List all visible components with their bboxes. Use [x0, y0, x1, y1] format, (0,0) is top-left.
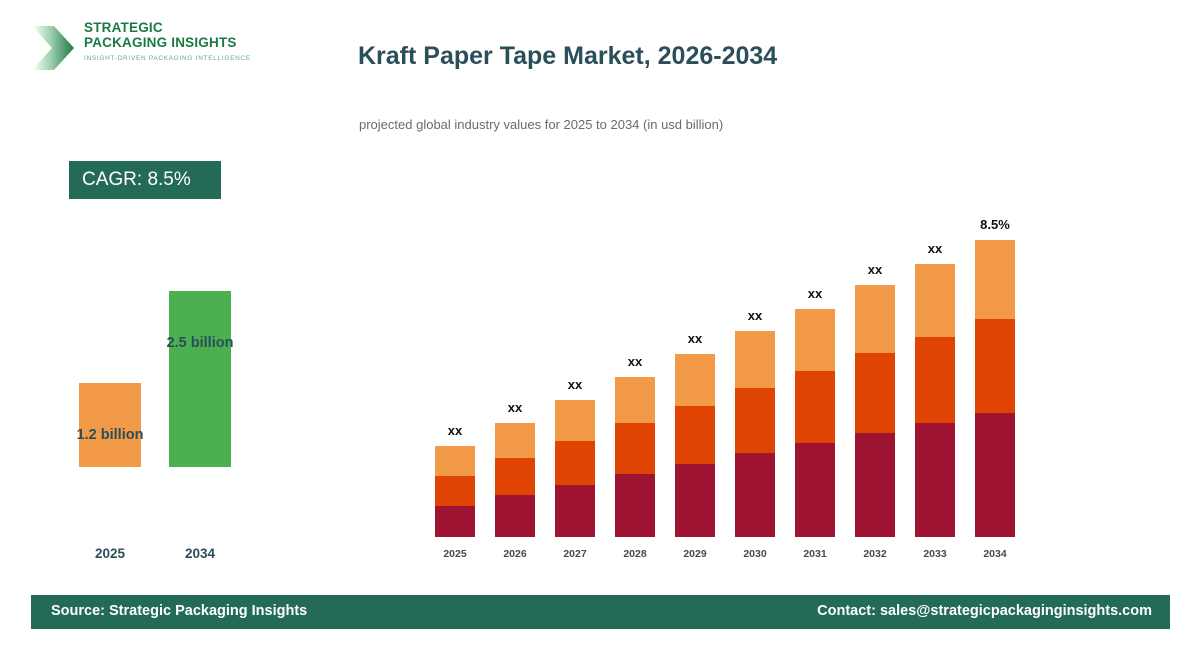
- stacked-bar-segment-segment-top: [435, 446, 475, 476]
- stacked-bar-value-label: xx: [795, 286, 835, 301]
- stacked-bar: [675, 354, 715, 537]
- comparison-bar: [79, 383, 141, 467]
- stacked-bar-year-label: 2033: [915, 548, 955, 560]
- stacked-bar-segment-segment-bottom: [555, 485, 595, 537]
- footer-bar: Source: Strategic Packaging Insights Con…: [31, 595, 1170, 629]
- stacked-bar-segment-segment-middle: [855, 353, 895, 433]
- forecast-stacked-bar-chart: xx2025xx2026xx2027xx2028xx2029xx2030xx20…: [415, 190, 1015, 560]
- stacked-bar: [555, 400, 595, 537]
- stacked-bar: [795, 309, 835, 537]
- stacked-bar-value-label: 8.5%: [975, 217, 1015, 232]
- stacked-bar-year-label: 2028: [615, 548, 655, 560]
- stacked-bar-segment-segment-middle: [795, 371, 835, 443]
- stacked-bar-segment-segment-bottom: [975, 413, 1015, 537]
- stacked-bar-value-label: xx: [855, 262, 895, 277]
- stacked-bar-segment-segment-middle: [555, 441, 595, 485]
- stacked-bar: [735, 331, 775, 537]
- stacked-bar-year-label: 2030: [735, 548, 775, 560]
- stacked-bar-segment-segment-middle: [435, 476, 475, 506]
- stacked-bar-segment-segment-top: [555, 400, 595, 441]
- footer-contact-text: Contact: sales@strategicpackaginginsight…: [817, 603, 1152, 619]
- footer-source-text: Source: Strategic Packaging Insights: [51, 603, 307, 619]
- stacked-bar-year-label: 2034: [975, 548, 1015, 560]
- page-subtitle: projected global industry values for 202…: [359, 117, 723, 132]
- comparison-bar: [169, 291, 231, 467]
- stacked-bar-value-label: xx: [915, 241, 955, 256]
- comparison-bar-value-label: 2.5 billion: [150, 335, 250, 351]
- stacked-bar: [855, 285, 895, 537]
- stacked-bar-year-label: 2026: [495, 548, 535, 560]
- stacked-bar-value-label: xx: [615, 354, 655, 369]
- stacked-bar-year-label: 2031: [795, 548, 835, 560]
- page-title: Kraft Paper Tape Market, 2026-2034: [358, 42, 777, 71]
- stacked-bar-segment-segment-bottom: [915, 423, 955, 537]
- stacked-bar-segment-segment-middle: [915, 337, 955, 423]
- stacked-bar-year-label: 2025: [435, 548, 475, 560]
- stacked-bar-value-label: xx: [435, 423, 475, 438]
- stacked-bar-segment-segment-bottom: [495, 495, 535, 537]
- stacked-bar-segment-segment-middle: [495, 458, 535, 495]
- stacked-bar: [615, 377, 655, 537]
- stacked-bar-segment-segment-top: [915, 264, 955, 337]
- stacked-bar-segment-segment-top: [795, 309, 835, 371]
- stacked-bar-segment-segment-top: [675, 354, 715, 406]
- stacked-bar-year-label: 2029: [675, 548, 715, 560]
- stacked-bar-year-label: 2027: [555, 548, 595, 560]
- stacked-bar-segment-segment-top: [615, 377, 655, 423]
- comparison-bar-value-label: 1.2 billion: [60, 427, 160, 443]
- stacked-bar-segment-segment-top: [975, 240, 1015, 319]
- stacked-bar-value-label: xx: [735, 308, 775, 323]
- stacked-bar-segment-segment-middle: [735, 388, 775, 453]
- stacked-bar: [915, 264, 955, 537]
- comparison-chart: 1.2 billion20252.5 billion2034: [0, 0, 320, 580]
- stacked-bar-segment-segment-bottom: [435, 506, 475, 537]
- stacked-bar-segment-segment-top: [495, 423, 535, 458]
- stacked-bar: [975, 240, 1015, 537]
- stacked-bar-segment-segment-bottom: [675, 464, 715, 537]
- stacked-bar: [495, 423, 535, 537]
- stacked-bar-value-label: xx: [675, 331, 715, 346]
- comparison-bar-year-label: 2034: [169, 546, 231, 561]
- stacked-bar-segment-segment-middle: [615, 423, 655, 474]
- stacked-bar-segment-segment-bottom: [795, 443, 835, 537]
- stacked-bar-segment-segment-bottom: [855, 433, 895, 537]
- stacked-bar-segment-segment-bottom: [735, 453, 775, 537]
- comparison-bar-year-label: 2025: [79, 546, 141, 561]
- stacked-bar: [435, 446, 475, 537]
- stacked-bar-segment-segment-top: [735, 331, 775, 388]
- stacked-bar-value-label: xx: [555, 377, 595, 392]
- stacked-bar-segment-segment-middle: [675, 406, 715, 464]
- stacked-bar-segment-segment-middle: [975, 319, 1015, 413]
- stacked-bar-segment-segment-top: [855, 285, 895, 353]
- stacked-bar-segment-segment-bottom: [615, 474, 655, 537]
- stacked-bar-year-label: 2032: [855, 548, 895, 560]
- stacked-bar-value-label: xx: [495, 400, 535, 415]
